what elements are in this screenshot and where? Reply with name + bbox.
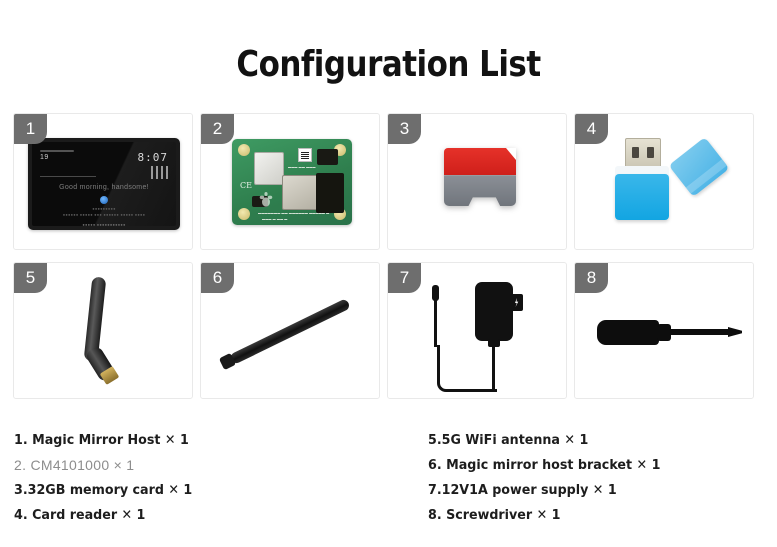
mirror-temperature: 19 bbox=[40, 154, 74, 161]
silkscreen-text-1: ▬▬▬ ▬▬ ▬▬▬ bbox=[288, 165, 316, 169]
list-item: 6. Magic mirror host bracket ✕ 1 bbox=[428, 453, 748, 478]
card-badge-3: 3 bbox=[388, 114, 421, 144]
page-title: Configuration List bbox=[54, 44, 722, 85]
card-badge-8: 8 bbox=[575, 263, 608, 293]
screwdriver-handle bbox=[597, 320, 659, 345]
adapter-body bbox=[475, 282, 513, 341]
mirror-bar-widget bbox=[151, 166, 168, 179]
bracket-shaft bbox=[229, 298, 351, 365]
card-badge-7: 7 bbox=[388, 263, 421, 293]
product-card-power-supply[interactable]: 7 bbox=[387, 262, 567, 399]
card-badge-1: 1 bbox=[14, 114, 47, 144]
reader-cap bbox=[669, 137, 730, 197]
list-item: 3.32GB memory card ✕ 1 bbox=[14, 478, 371, 503]
product-card-wifi-antenna[interactable]: 5 bbox=[13, 262, 193, 399]
product-card-host-bracket[interactable]: 6 bbox=[200, 262, 380, 399]
rf-shield bbox=[254, 152, 284, 185]
product-card-screwdriver[interactable]: 8 bbox=[574, 262, 754, 399]
emmc-chip bbox=[316, 173, 344, 213]
card-row-1: 1 19 8:07 bbox=[13, 113, 764, 250]
ce-mark-icon: CE bbox=[240, 181, 252, 190]
screwdriver-tip bbox=[728, 327, 742, 337]
product-card-card-reader[interactable]: 4 bbox=[574, 113, 754, 250]
card-badge-5: 5 bbox=[14, 263, 47, 293]
mirror-weather-widget: 19 bbox=[40, 150, 74, 161]
card-badge-6: 6 bbox=[201, 263, 234, 293]
product-card-grid: 1 19 8:07 bbox=[13, 113, 764, 399]
raspberry-pi-logo-icon bbox=[258, 191, 274, 209]
list-item: 2. CM4101000 × 1 bbox=[14, 453, 394, 478]
product-card-memory-card[interactable]: 3 bbox=[387, 113, 567, 250]
mirror-subtext-1: ●●●●●●●●● bbox=[32, 206, 176, 211]
list-column-left: 1. Magic Mirror Host ✕ 1 2. CM4101000 × … bbox=[14, 428, 394, 528]
mirror-subtext-3: ●●●●● ●●●●●●●●●●● bbox=[32, 222, 176, 226]
silkscreen-text-2: ▬▬▬▬▬▬▬ ▬▬ ▬▬▬▬▬▬ ▬▬▬▬▬ ▬ bbox=[258, 211, 329, 215]
card-badge-2: 2 bbox=[201, 114, 234, 144]
soc-chip bbox=[282, 175, 320, 210]
list-item: 8. Screwdriver ✕ 1 bbox=[428, 503, 748, 528]
list-item: 1. Magic Mirror Host ✕ 1 bbox=[14, 428, 371, 453]
list-column-right: 5.5G WiFi antenna ✕ 1 6. Magic mirror ho… bbox=[428, 428, 768, 528]
adapter-prongs bbox=[510, 294, 523, 311]
mirror-greeting: Good morning, handsome! bbox=[32, 184, 176, 191]
product-card-compute-module[interactable]: 2 CE bbox=[200, 113, 380, 250]
mirror-subtext-2: ●●●●●● ●●●●● ●●● ●●●●●● ●●●●● ●●●● bbox=[32, 212, 176, 217]
mirror-avatar-icon bbox=[100, 196, 108, 204]
configuration-item-list: 1. Magic Mirror Host ✕ 1 2. CM4101000 × … bbox=[0, 428, 777, 538]
card-badge-4: 4 bbox=[575, 114, 608, 144]
ram-chip bbox=[317, 149, 338, 165]
product-card-magic-mirror-host[interactable]: 1 19 8:07 bbox=[13, 113, 193, 250]
silkscreen-text-3: ▬▬▬ ▬ ▬▬ ▬ bbox=[262, 217, 288, 221]
mirror-clock: 8:07 bbox=[138, 151, 169, 164]
qr-code-icon bbox=[298, 148, 312, 162]
list-item: 7.12V1A power supply ✕ 1 bbox=[428, 478, 748, 503]
card-row-2: 5 6 7 bbox=[13, 262, 764, 399]
screwdriver-shaft bbox=[670, 329, 732, 335]
adapter-cable bbox=[437, 345, 497, 392]
configuration-list-page: Configuration List 1 19 8:07 bbox=[0, 0, 777, 547]
list-item: 4. Card reader ✕ 1 bbox=[14, 503, 371, 528]
reader-body bbox=[615, 174, 669, 220]
list-item: 5.5G WiFi antenna ✕ 1 bbox=[428, 428, 748, 453]
